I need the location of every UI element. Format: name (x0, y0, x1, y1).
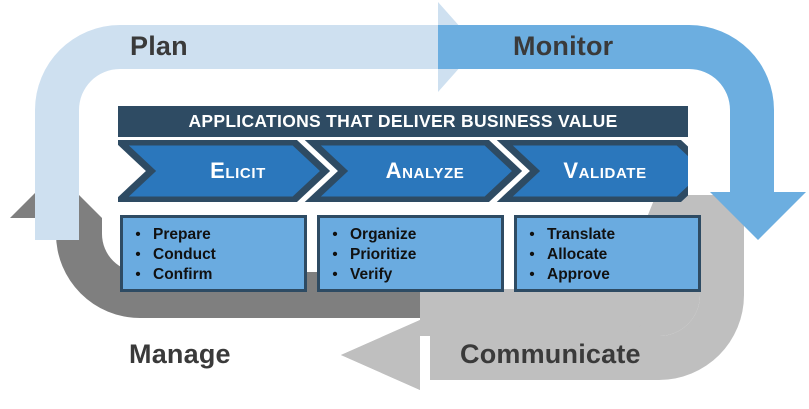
bullet-list: • Prepare • Conduct • Confirm (123, 225, 304, 285)
bullet-text: Organize (350, 225, 416, 245)
bullet-dot-icon: • (123, 225, 153, 245)
bullet-text: Prioritize (350, 245, 416, 265)
cycle-label-communicate: Communicate (460, 341, 641, 368)
bullet-dot-icon: • (517, 265, 547, 285)
list-item: • Allocate (517, 245, 698, 265)
bullet-dot-icon: • (123, 265, 153, 285)
core-banner: APPLICATIONS THAT DELIVER BUSINESS VALUE (118, 106, 688, 137)
cycle-label-plan: Plan (130, 33, 188, 60)
list-item: • Approve (517, 265, 698, 285)
bullet-dot-icon: • (320, 265, 350, 285)
bullet-dot-icon: • (320, 225, 350, 245)
bullet-list: • Translate • Allocate • Approve (517, 225, 698, 285)
bullet-list: • Organize • Prioritize • Verify (320, 225, 501, 285)
list-item: • Prioritize (320, 245, 501, 265)
bullet-dot-icon: • (517, 225, 547, 245)
bullet-text: Verify (350, 265, 392, 285)
bullet-text: Prepare (153, 225, 211, 245)
bullet-dot-icon: • (123, 245, 153, 265)
bullet-text: Approve (547, 265, 610, 285)
chevron-shape-validate (504, 142, 688, 200)
bullet-text: Allocate (547, 245, 607, 265)
bullet-dot-icon: • (320, 245, 350, 265)
bullet-text: Confirm (153, 265, 212, 285)
core-panel: APPLICATIONS THAT DELIVER BUSINESS VALUE… (118, 106, 688, 292)
process-cycle-diagram: Plan Monitor Communicate Manage APPLICAT… (0, 0, 809, 409)
cycle-label-manage: Manage (129, 341, 231, 368)
bullet-dot-icon: • (517, 245, 547, 265)
list-item: • Prepare (123, 225, 304, 245)
list-item: • Organize (320, 225, 501, 245)
phase-bullets-validate: • Translate • Allocate • Approve (514, 215, 701, 292)
phase-bullets-elicit: • Prepare • Conduct • Confirm (120, 215, 307, 292)
phase-chevrons-graphic (118, 140, 688, 202)
list-item: • Translate (517, 225, 698, 245)
bullet-text: Translate (547, 225, 615, 245)
phase-chevron-row: Elicit Analyze Validate (118, 140, 688, 202)
phase-bullets-analyze: • Organize • Prioritize • Verify (317, 215, 504, 292)
chevron-shape-analyze (312, 142, 517, 200)
chevron-shape-elicit (120, 142, 325, 200)
bullet-text: Conduct (153, 245, 216, 265)
list-item: • Verify (320, 265, 501, 285)
core-banner-text: APPLICATIONS THAT DELIVER BUSINESS VALUE (188, 111, 617, 132)
list-item: • Conduct (123, 245, 304, 265)
cycle-label-monitor: Monitor (513, 33, 613, 60)
list-item: • Confirm (123, 265, 304, 285)
